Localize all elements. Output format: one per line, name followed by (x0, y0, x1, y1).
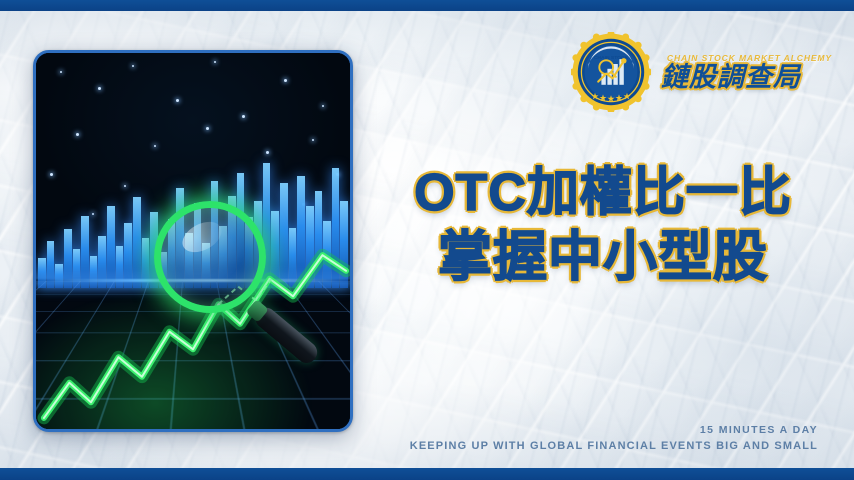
logo-lockup[interactable]: CHAIN STOCK (571, 32, 832, 112)
tagline-line-1: 15 MINUTES A DAY (410, 424, 818, 436)
tagline-line-2: KEEPING UP WITH GLOBAL FINANCIAL EVENTS … (410, 440, 818, 452)
headline-line-2: 掌握中小型股 (372, 229, 834, 286)
presentation-slide: CHAIN STOCK (0, 0, 854, 480)
tagline: 15 MINUTES A DAY KEEPING UP WITH GLOBAL … (410, 424, 818, 452)
page-title: OTC加權比一比 掌握中小型股 (372, 166, 834, 286)
brand-bar-top (0, 0, 854, 11)
brand-text: CHAIN STOCK MARKET ALCHEMY 鏈股調查局 (661, 53, 832, 91)
media-card (33, 50, 353, 432)
brand-chinese-name: 鏈股調查局 (661, 64, 801, 91)
headline-line-1: OTC加權比一比 (372, 166, 834, 221)
magnifier-icon (154, 201, 266, 313)
chart-magnifier-seal-icon: CHAIN STOCK (571, 32, 651, 112)
brand-bar-bottom (0, 468, 854, 480)
